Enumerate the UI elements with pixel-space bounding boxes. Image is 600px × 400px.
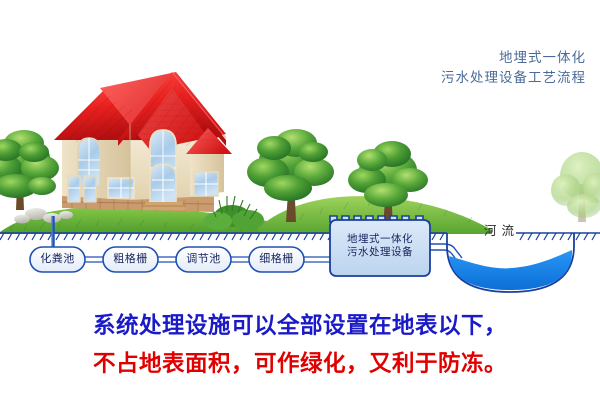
diagram-title: 地埋式一体化 污水处理设备工艺流程: [441, 48, 586, 88]
flow-node-label-fine-screen: 细格栅: [249, 253, 304, 265]
diagram-page: 地埋式一体化 污水处理设备工艺流程 化粪池 粗格栅 调节池 细格栅 地埋式一体化…: [0, 0, 600, 400]
equipment-label-line1: 地埋式一体化: [330, 233, 430, 246]
equipment-label-line2: 污水处理设备: [330, 246, 430, 259]
window: [194, 172, 218, 196]
house-to-septic-pipe: [52, 216, 53, 247]
tree-left: [0, 130, 59, 210]
caption-line-1: 系统处理设施可以全部设置在地表以下，: [0, 308, 600, 340]
river: [447, 233, 574, 292]
equipment-label: 地埋式一体化 污水处理设备: [330, 233, 430, 259]
flow-node-label-equalization-tank: 调节池: [176, 253, 231, 265]
diagram-title-line1: 地埋式一体化: [441, 48, 586, 68]
tree-right-faded: [551, 152, 600, 222]
diagram-title-line2: 污水处理设备工艺流程: [441, 68, 586, 88]
flow-node-label-septic-tank: 化粪池: [30, 253, 85, 265]
house: [54, 72, 232, 212]
front-door: [150, 164, 176, 202]
river-label: 河流: [484, 220, 519, 239]
caption-line-2: 不占地表面积，可作绿化，又利于防冻。: [0, 346, 600, 378]
flow-node-label-coarse-screen: 粗格栅: [103, 253, 158, 265]
